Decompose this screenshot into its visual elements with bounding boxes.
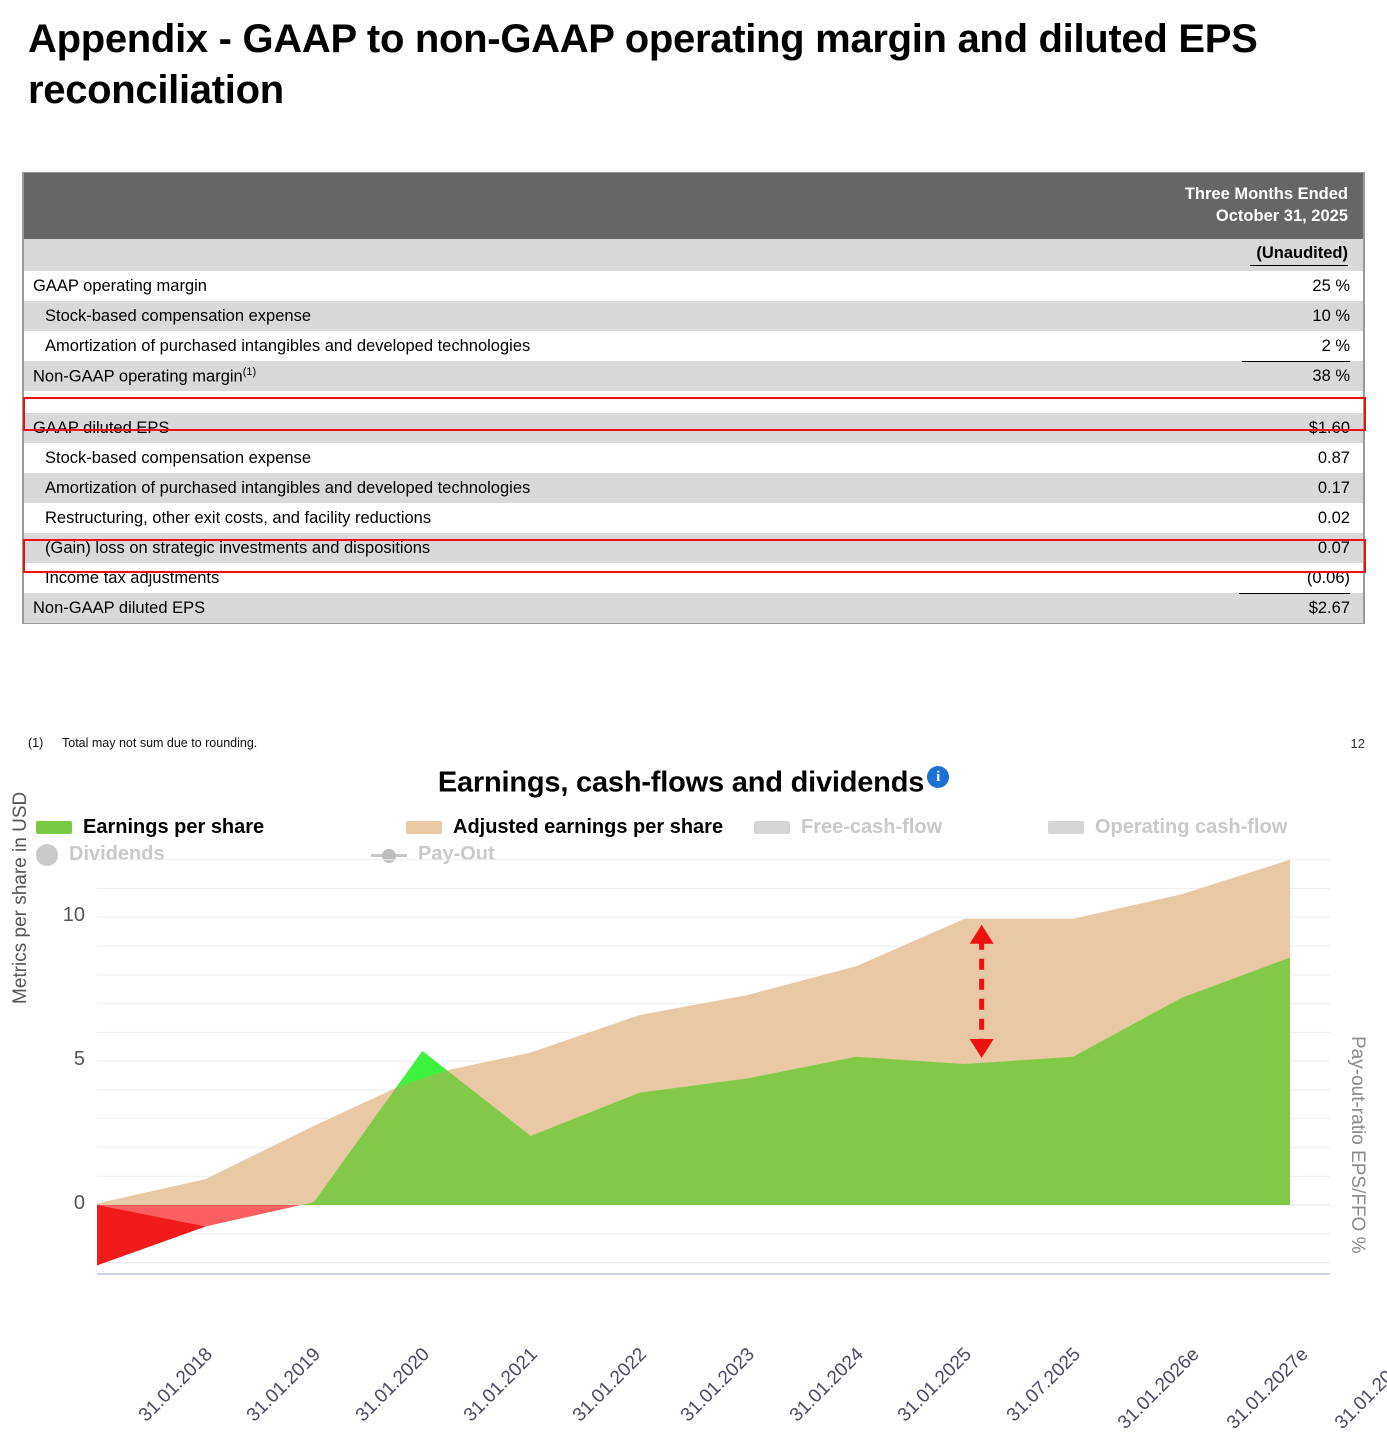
- footnote: (1)Total may not sum due to rounding.: [28, 736, 257, 750]
- row-value: 0.17: [1318, 473, 1350, 503]
- page-title: Appendix - GAAP to non-GAAP operating ma…: [28, 14, 1278, 116]
- table-row: Restructuring, other exit costs, and fac…: [23, 503, 1364, 533]
- unaudited-label: (Unaudited): [1250, 244, 1348, 266]
- row-label: Non-GAAP diluted EPS: [23, 599, 205, 618]
- x-axis-tick-label: 31.01.2021: [460, 1344, 543, 1427]
- x-axis-tick-label: 31.01.2019: [243, 1344, 326, 1427]
- row-label: Amortization of purchased intangibles an…: [23, 479, 530, 498]
- legend-swatch-icon: [406, 821, 442, 834]
- y-axis-tick-label: 5: [39, 1048, 85, 1071]
- x-axis-labels: 31.01.201831.01.201931.01.202031.01.2021…: [0, 1338, 1387, 1445]
- row-value: 25 %: [1312, 271, 1350, 301]
- legend-row: Earnings per shareAdjusted earnings per …: [36, 814, 1356, 841]
- page-number: 12: [1351, 736, 1365, 751]
- chart-container: Earnings, cash-flows and dividendsi Earn…: [0, 758, 1387, 1445]
- table-subheader: (Unaudited): [23, 239, 1364, 271]
- row-value: $1.60: [1309, 413, 1350, 443]
- row-value: 0.02: [1318, 503, 1350, 533]
- x-axis-tick-label: 31.01.2020: [352, 1344, 435, 1427]
- slide-page: Appendix - GAAP to non-GAAP operating ma…: [0, 0, 1387, 1445]
- table-row: GAAP operating margin25 %: [23, 271, 1364, 301]
- table-row: Non-GAAP operating margin(1)38 %: [23, 361, 1364, 391]
- table-row: Amortization of purchased intangibles an…: [23, 331, 1364, 361]
- legend-item-operating-cash-flow[interactable]: Operating cash-flow: [1048, 816, 1287, 839]
- x-axis-tick-label: 31.01.2026e: [1114, 1344, 1204, 1434]
- chart-svg: [0, 854, 1387, 1329]
- legend-label: Earnings per share: [83, 816, 264, 839]
- legend-label: Free-cash-flow: [801, 816, 942, 839]
- row-label: Amortization of purchased intangibles an…: [23, 337, 530, 356]
- row-label: Stock-based compensation expense: [23, 307, 311, 326]
- x-axis-tick-label: 31.01.2025: [894, 1344, 977, 1427]
- period-header-line1: Three Months Ended: [1185, 184, 1348, 206]
- footnote-marker: (1): [28, 736, 62, 750]
- table-row: Stock-based compensation expense0.87: [23, 443, 1364, 473]
- info-icon[interactable]: i: [927, 766, 949, 788]
- row-label: (Gain) loss on strategic investments and…: [23, 539, 430, 558]
- y-axis-tick-label: 0: [39, 1192, 85, 1215]
- row-value: 10 %: [1312, 301, 1350, 331]
- row-label: Stock-based compensation expense: [23, 449, 311, 468]
- x-axis-tick-label: 31.01.2028e: [1331, 1344, 1387, 1434]
- table-row: (Gain) loss on strategic investments and…: [23, 533, 1364, 563]
- row-value: 2 %: [1322, 331, 1350, 361]
- x-axis-tick-label: 31.07.2025: [1002, 1344, 1085, 1427]
- table-row: Income tax adjustments(0.06): [23, 563, 1364, 593]
- legend-swatch-icon: [36, 821, 72, 834]
- row-value: 0.07: [1318, 533, 1350, 563]
- table-left-border: [23, 173, 24, 623]
- legend-swatch-icon: [754, 821, 790, 834]
- table-spacer: [23, 391, 1364, 413]
- row-value: 38 %: [1242, 361, 1350, 391]
- legend-label: Adjusted earnings per share: [453, 816, 723, 839]
- row-label: Income tax adjustments: [23, 569, 219, 588]
- legend-label: Operating cash-flow: [1095, 816, 1287, 839]
- legend-item-adjusted-earnings-per-share[interactable]: Adjusted earnings per share: [406, 816, 723, 839]
- table-header: Three Months Ended October 31, 2025: [23, 173, 1364, 239]
- x-axis-tick-label: 31.01.2027e: [1222, 1344, 1312, 1434]
- row-value: (0.06): [1307, 563, 1350, 593]
- x-axis-tick-label: 31.01.2024: [786, 1344, 869, 1427]
- row-label-superscript: (1): [243, 366, 256, 378]
- table-right-border: [1363, 173, 1364, 623]
- period-header-line2: October 31, 2025: [1185, 206, 1348, 228]
- table-row: GAAP diluted EPS$1.60: [23, 413, 1364, 443]
- legend-swatch-icon: [1048, 821, 1084, 834]
- row-value: 0.87: [1318, 443, 1350, 473]
- chart-plot-area: Metrics per share in USD Pay-out-ratio E…: [0, 854, 1387, 1329]
- y-axis-tick-label: 10: [39, 904, 85, 927]
- row-label: Restructuring, other exit costs, and fac…: [23, 509, 431, 528]
- footnote-text: Total may not sum due to rounding.: [62, 736, 257, 750]
- reconciliation-table: Three Months Ended October 31, 2025 (Una…: [22, 172, 1365, 624]
- x-axis-tick-label: 31.01.2023: [677, 1344, 760, 1427]
- period-header: Three Months Ended October 31, 2025: [1185, 184, 1348, 228]
- x-axis-tick-label: 31.01.2022: [569, 1344, 652, 1427]
- chart-title-text: Earnings, cash-flows and dividends: [438, 767, 924, 799]
- row-label: GAAP diluted EPS: [23, 419, 169, 438]
- chart-title: Earnings, cash-flows and dividendsi: [0, 766, 1387, 800]
- x-axis-tick-label: 31.01.2018: [135, 1344, 218, 1427]
- legend-item-free-cash-flow[interactable]: Free-cash-flow: [754, 816, 942, 839]
- row-label: Non-GAAP operating margin(1): [23, 366, 256, 387]
- table-row: Stock-based compensation expense10 %: [23, 301, 1364, 331]
- table-body: GAAP operating margin25 %Stock-based com…: [23, 271, 1364, 623]
- row-value: $2.67: [1239, 593, 1350, 623]
- y-axis-label-left: Metrics per share in USD: [10, 792, 32, 1004]
- table-row: Non-GAAP diluted EPS$2.67: [23, 593, 1364, 623]
- legend-item-earnings-per-share[interactable]: Earnings per share: [36, 816, 264, 839]
- y-axis-label-right: Pay-out-ratio EPS/FFO %: [1346, 1036, 1368, 1254]
- table-row: Amortization of purchased intangibles an…: [23, 473, 1364, 503]
- row-label: GAAP operating margin: [23, 277, 207, 296]
